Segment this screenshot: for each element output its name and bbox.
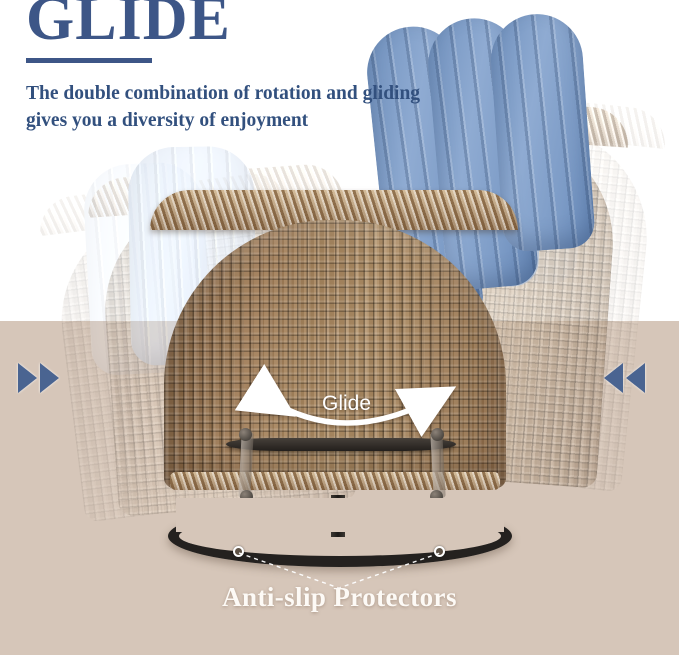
product-feature-image: Glide GLIDE The double combination of ro… bbox=[0, 0, 679, 655]
chevron-double-right-icon bbox=[18, 352, 80, 404]
page-title: GLIDE bbox=[26, 0, 231, 50]
anti-slip-caption: Anti-slip Protectors bbox=[0, 582, 679, 613]
glide-label: Glide bbox=[322, 392, 371, 416]
subheading: The double combination of rotation and g… bbox=[26, 80, 426, 134]
chevron-double-left-icon bbox=[604, 352, 666, 404]
title-underline-rule bbox=[26, 58, 152, 63]
